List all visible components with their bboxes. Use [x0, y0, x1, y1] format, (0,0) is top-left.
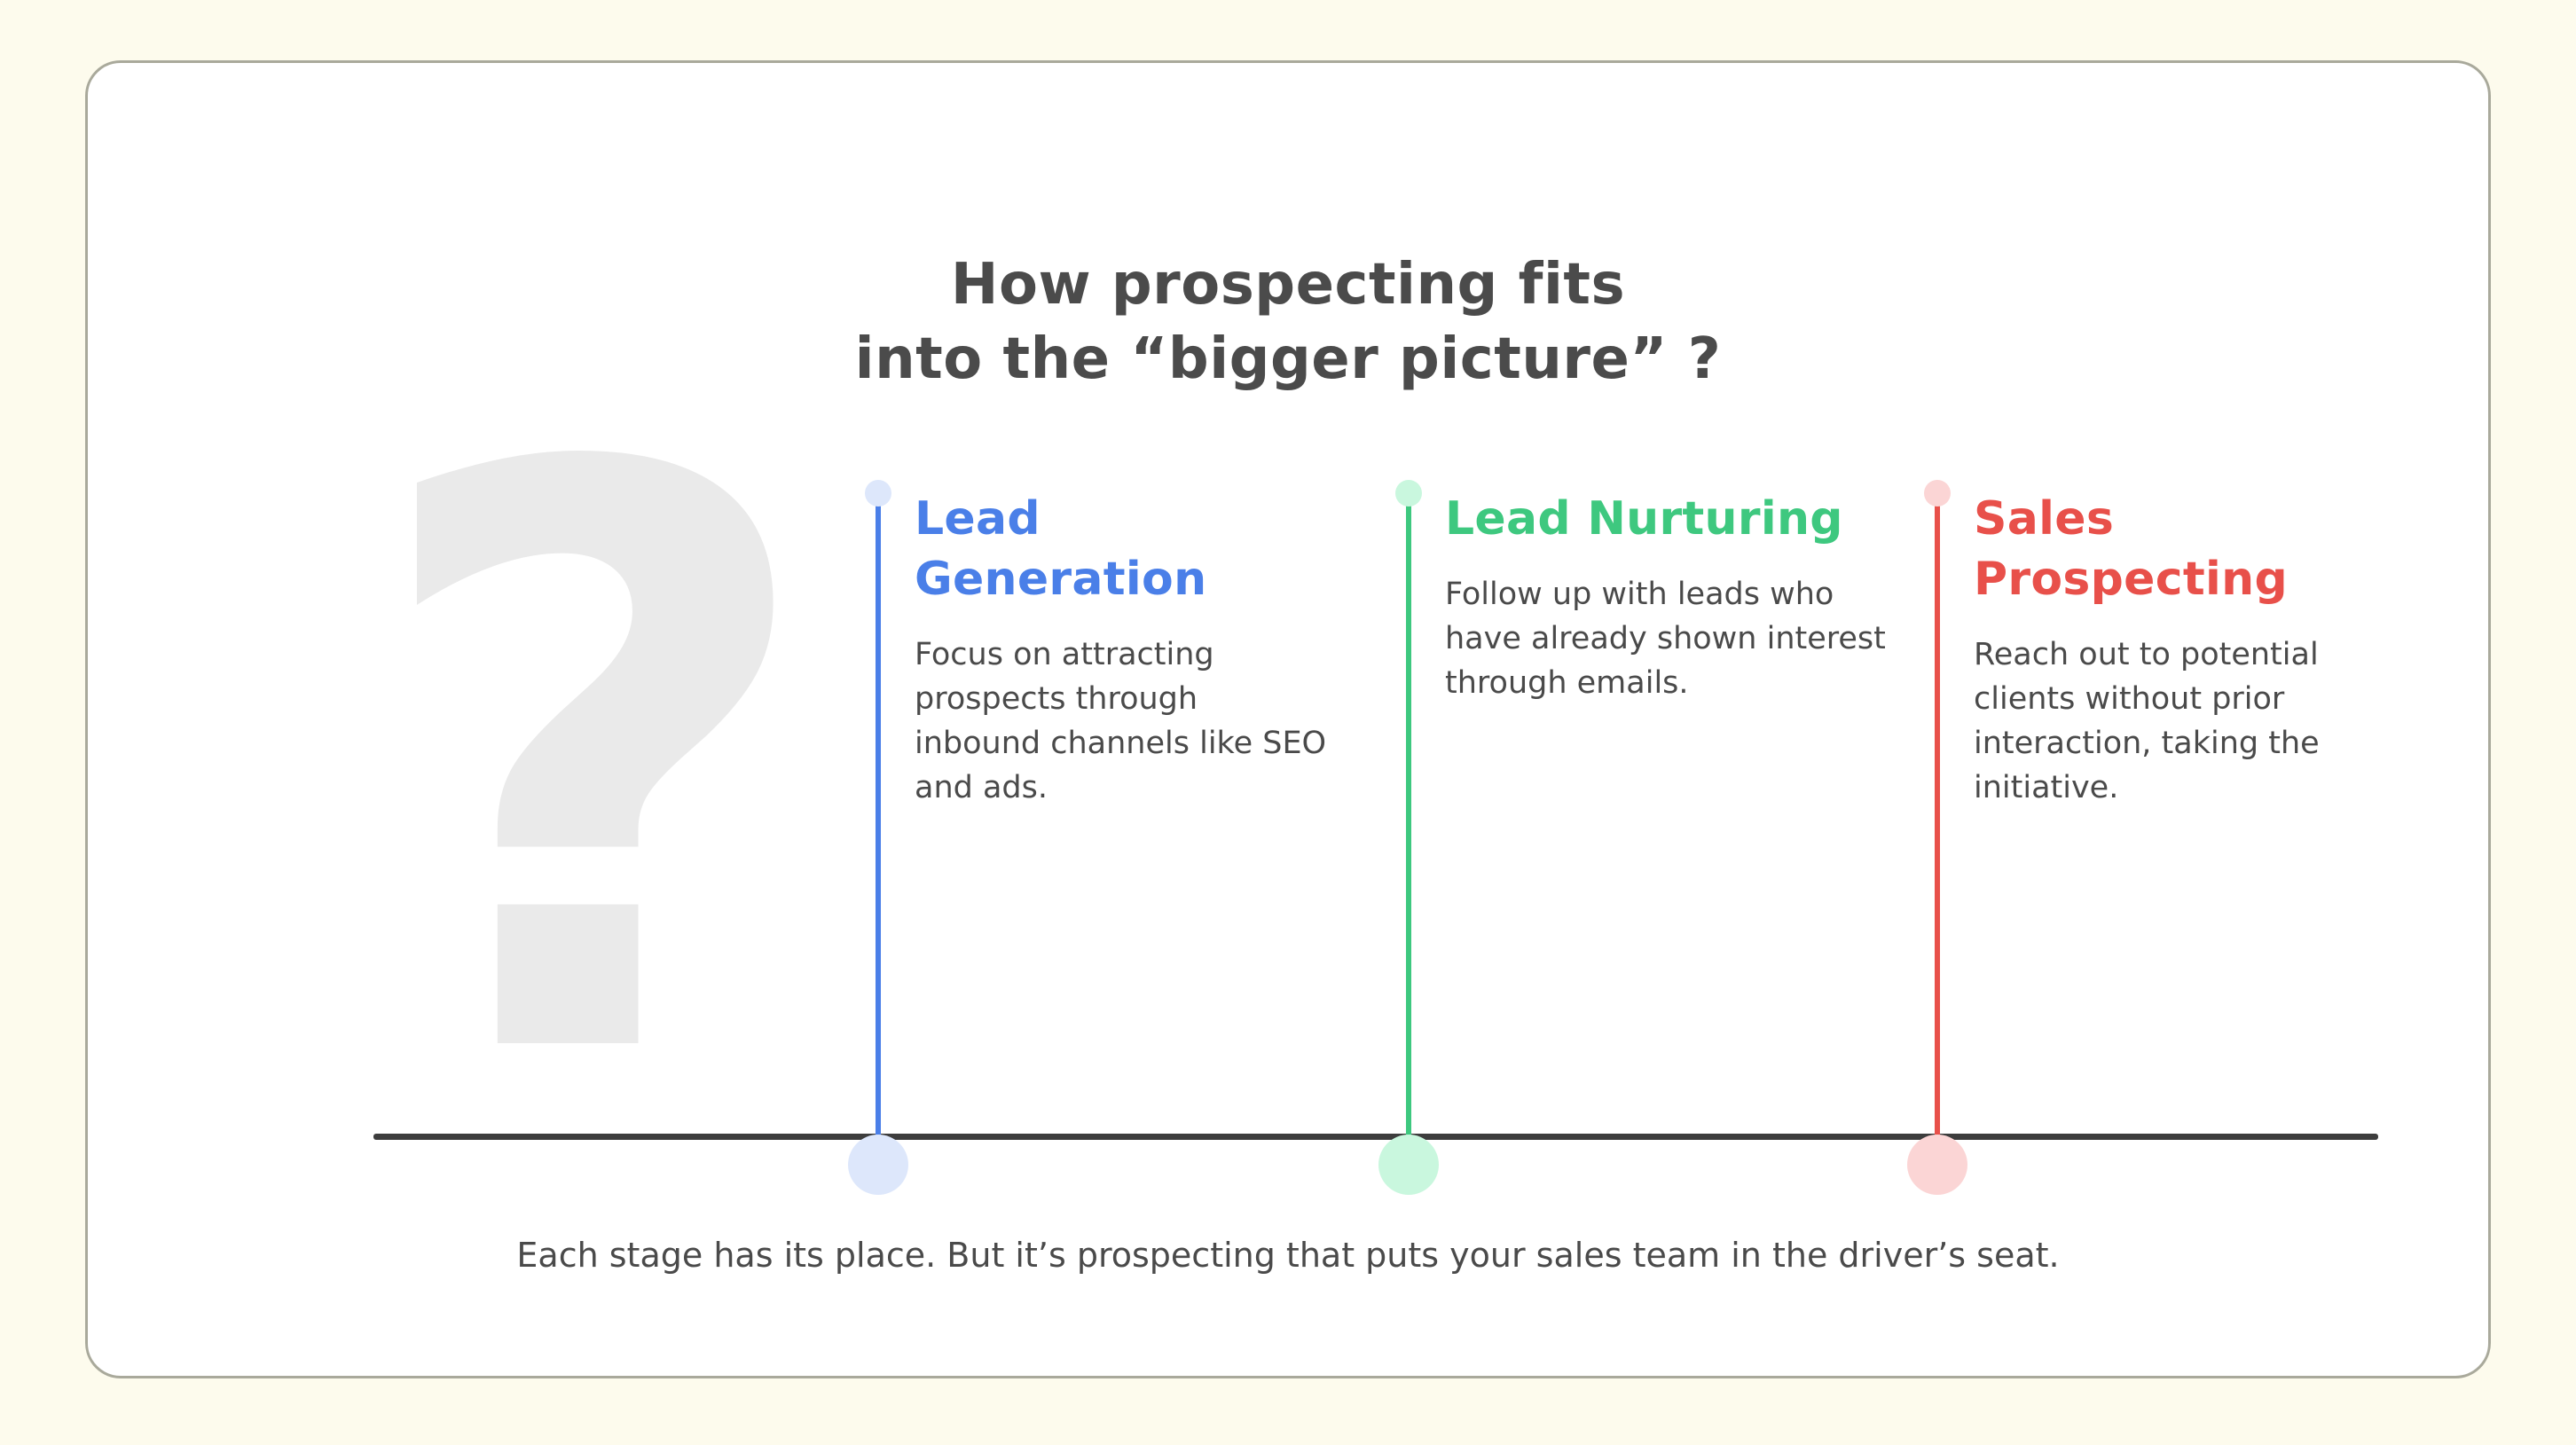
stage-connector-line — [876, 501, 881, 1158]
timeline-baseline — [373, 1134, 2378, 1140]
stage-description: Follow up with leads who have already sh… — [1445, 572, 1889, 705]
stage-dot-top — [1395, 480, 1422, 507]
footer-caption: Each stage has its place. But it’s prosp… — [88, 1232, 2488, 1278]
stage-description: Reach out to potential clients without p… — [1974, 632, 2391, 810]
stage-dot-top — [1924, 480, 1951, 507]
stage-description: Focus on attracting prospects through in… — [915, 632, 1331, 810]
slide-card: ? How prospecting fits into the “bigger … — [85, 60, 2491, 1378]
stage-connector-line — [1935, 501, 1940, 1158]
question-mark-watermark-icon: ? — [345, 378, 842, 1158]
stage-dot-bottom — [1378, 1135, 1439, 1195]
stage-dot-top — [865, 480, 891, 507]
stage-dot-bottom — [848, 1135, 908, 1195]
stage-body: Sales Prospecting Reach out to potential… — [1974, 489, 2391, 810]
stage-dot-bottom — [1907, 1135, 1967, 1195]
stage-heading: Lead Generation — [915, 489, 1331, 609]
stage-body: Lead Nurturing Follow up with leads who … — [1445, 489, 1889, 705]
stage-connector-line — [1406, 501, 1411, 1158]
stage-body: Lead Generation Focus on attracting pros… — [915, 489, 1331, 810]
stage-heading: Lead Nurturing — [1445, 489, 1889, 549]
stage-heading: Sales Prospecting — [1974, 489, 2391, 609]
